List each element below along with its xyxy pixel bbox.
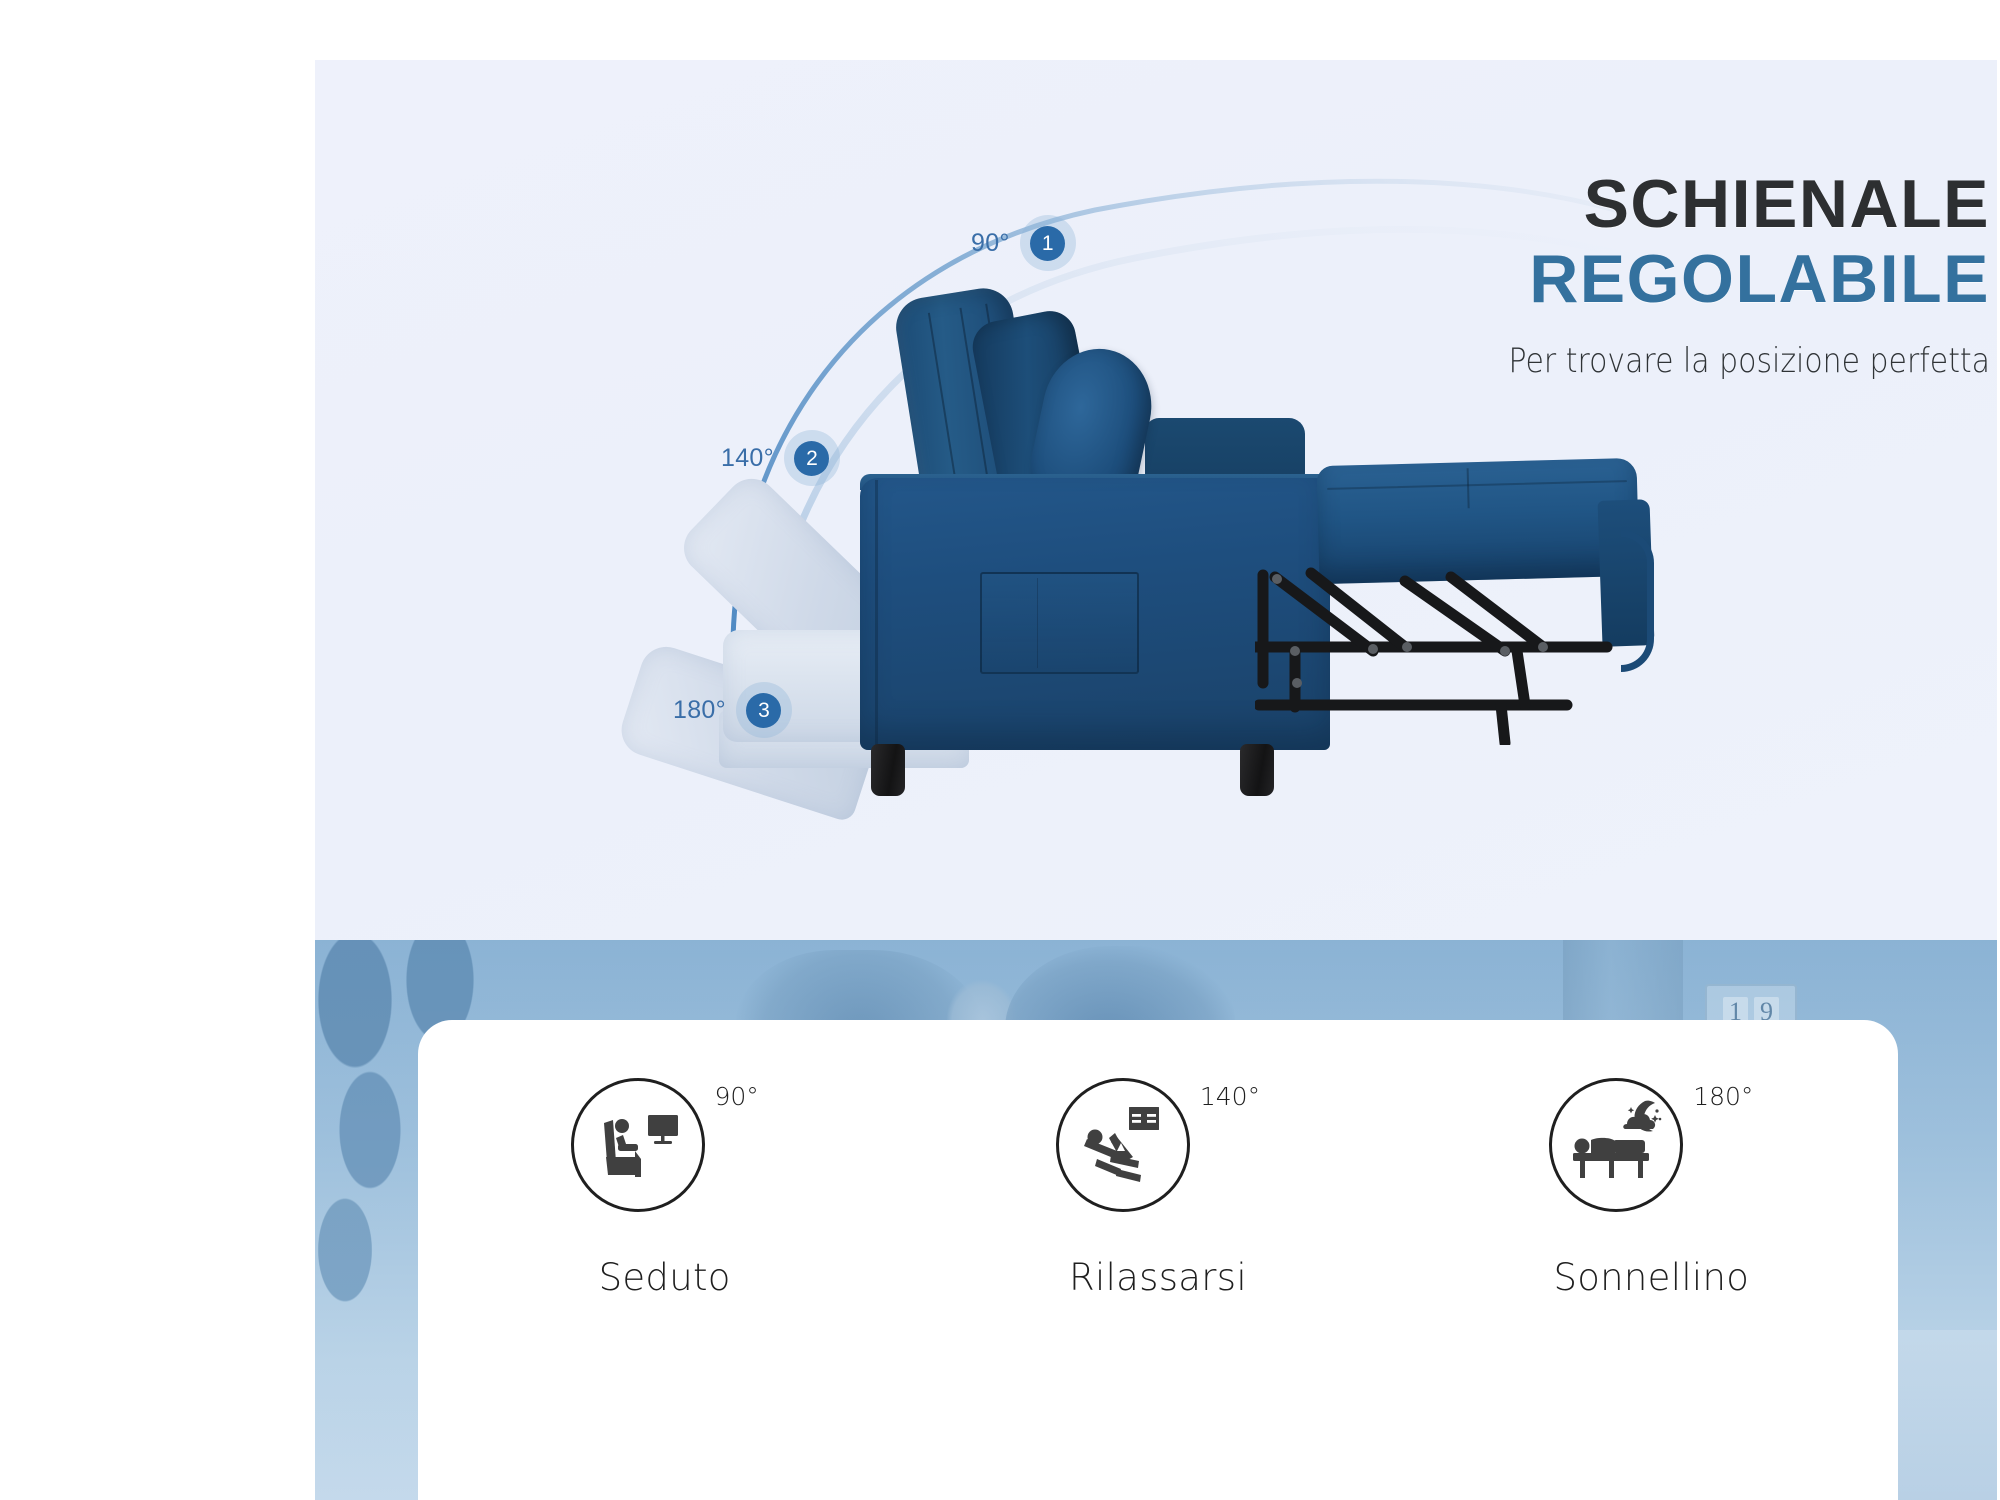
recline-marker-140-badge: 2 bbox=[784, 430, 840, 486]
mode-rilassarsi-angle: 140° bbox=[1200, 1082, 1260, 1111]
mode-sonnellino-top: 180° bbox=[1549, 1078, 1753, 1212]
side-storage-pocket bbox=[980, 572, 1139, 674]
person-sitting-tv-icon bbox=[592, 1099, 684, 1191]
mode-seduto-circle bbox=[571, 1078, 705, 1212]
badge-number: 3 bbox=[746, 693, 781, 728]
person-reclining-book-icon bbox=[1075, 1099, 1171, 1191]
chair-leg-front bbox=[871, 744, 905, 796]
headline-subtitle: Per trovare la posizione perfetta bbox=[1480, 341, 1990, 381]
hero-section: 90° 1 140° 2 180° 3 bbox=[315, 60, 1997, 940]
mode-rilassarsi-label: Rilassarsi bbox=[1069, 1256, 1247, 1299]
modes-card: 90° Seduto bbox=[418, 1020, 1898, 1500]
recline-marker-180-badge: 3 bbox=[736, 682, 792, 738]
recline-marker-90: 90° 1 bbox=[971, 215, 1076, 271]
recline-marker-90-badge: 1 bbox=[1020, 215, 1076, 271]
headline-block: SCHIENALE REGOLABILE Per trovare la posi… bbox=[1410, 170, 1990, 381]
metal-recline-mechanism bbox=[1255, 555, 1615, 745]
mode-rilassarsi: 140° Rilassarsi bbox=[968, 1078, 1348, 1299]
recline-marker-90-angle: 90° bbox=[971, 229, 1010, 258]
headline-primary: SCHIENALE bbox=[1410, 170, 1990, 239]
mode-sonnellino-circle bbox=[1549, 1078, 1683, 1212]
headline-secondary: REGOLABILE bbox=[1410, 243, 1990, 315]
person-lying-bed-moon-icon bbox=[1567, 1099, 1665, 1191]
badge-number: 1 bbox=[1030, 226, 1065, 261]
chair-leg-rear bbox=[1240, 744, 1274, 796]
mode-seduto: 90° Seduto bbox=[475, 1078, 855, 1299]
badge-number: 2 bbox=[794, 441, 829, 476]
mode-sonnellino-angle: 180° bbox=[1693, 1082, 1753, 1111]
body-seam bbox=[875, 480, 878, 748]
mode-seduto-top: 90° bbox=[571, 1078, 759, 1212]
product-feature-panel: 90° 1 140° 2 180° 3 bbox=[315, 60, 1997, 1500]
modes-row: 90° Seduto bbox=[418, 1020, 1898, 1440]
mode-seduto-label: Seduto bbox=[599, 1256, 731, 1299]
mode-rilassarsi-circle bbox=[1056, 1078, 1190, 1212]
footrest-pull-strap bbox=[1621, 530, 1654, 672]
mode-sonnellino-label: Sonnellino bbox=[1553, 1256, 1749, 1299]
recline-marker-180-angle: 180° bbox=[673, 696, 726, 725]
mode-sonnellino: 180° Sonnellino bbox=[1461, 1078, 1841, 1299]
recline-marker-140: 140° 2 bbox=[721, 430, 840, 486]
mode-rilassarsi-top: 140° bbox=[1056, 1078, 1260, 1212]
screenshot-root: 90° 1 140° 2 180° 3 bbox=[0, 0, 2000, 1500]
mode-seduto-angle: 90° bbox=[715, 1082, 759, 1111]
recline-marker-180: 180° 3 bbox=[673, 682, 792, 738]
recline-marker-140-angle: 140° bbox=[721, 444, 774, 473]
